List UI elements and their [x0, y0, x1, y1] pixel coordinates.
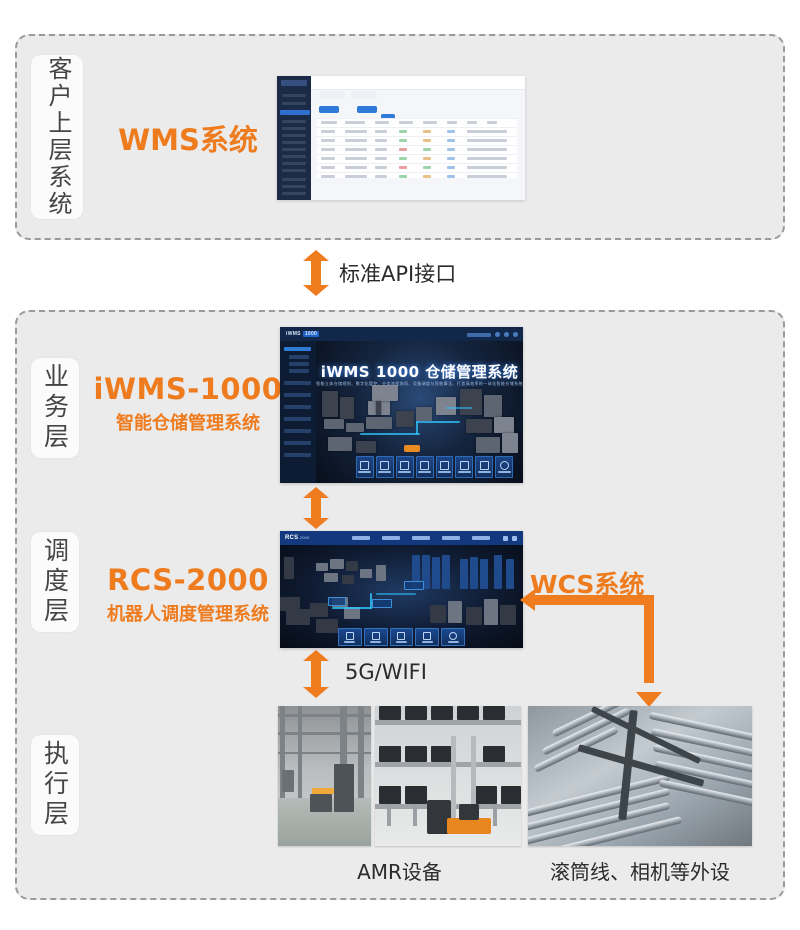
- wms-brand-icon: [281, 80, 307, 86]
- rcs-nav-item[interactable]: [352, 536, 370, 540]
- arrow-bidirectional-api: [303, 250, 329, 296]
- iwms-dock-button[interactable]: [475, 456, 493, 478]
- layer-label-scheduling-text: 调度层: [42, 537, 69, 627]
- screenshot-iwms-1000[interactable]: iWMS1000: [280, 327, 523, 483]
- iwms-sidebar: [280, 341, 316, 483]
- photo-amr-robot: [375, 706, 521, 846]
- iwms-hero-visual: iWMS 1000 仓储管理系统 智能立体仓储规划、数字化管控、业务流程协同、设…: [316, 341, 523, 483]
- iwms-menu-item: [289, 355, 309, 359]
- rcs-nav-item[interactable]: [442, 536, 460, 540]
- wms-primary-button[interactable]: [319, 106, 339, 113]
- layer-label-execution-text: 执行层: [42, 740, 69, 830]
- layer-label-business: 业务层: [31, 358, 79, 458]
- iwms-dock-button-settings[interactable]: [495, 456, 513, 478]
- wms-tab[interactable]: [319, 91, 345, 99]
- rcs-dock-button[interactable]: [338, 628, 362, 646]
- wms-menu-item: [282, 192, 306, 195]
- iwms-menu-item: [284, 393, 311, 397]
- rcs-nav-item[interactable]: [382, 536, 400, 540]
- architecture-diagram: 客户上层系统 WMS系统: [0, 0, 800, 930]
- layer-label-business-text: 业务层: [42, 363, 69, 453]
- wms-menu-item: [282, 162, 306, 165]
- iwms-dock-button[interactable]: [436, 456, 454, 478]
- rcs-header: RCS-2000: [280, 531, 523, 545]
- wms-menu-item: [282, 134, 306, 137]
- iwms-menu-item: [289, 369, 309, 373]
- photo-conveyor-line: [528, 706, 752, 846]
- iwms-dock-button[interactable]: [416, 456, 434, 478]
- wms-menu-item: [282, 169, 306, 172]
- system-subtitle-iwms: 智能仓储管理系统: [80, 409, 296, 435]
- layer-label-customer-text: 客户上层系统: [44, 56, 70, 218]
- iwms-dock-button[interactable]: [455, 456, 473, 478]
- iwms-menu-item: [284, 429, 311, 433]
- iwms-menu-item: [284, 405, 311, 409]
- arrow-wcs-connector: [520, 595, 655, 707]
- wms-menu-item: [282, 94, 306, 97]
- iwms-dock-button[interactable]: [396, 456, 414, 478]
- iwms-dock-button[interactable]: [376, 456, 394, 478]
- rcs-nav[interactable]: [352, 536, 490, 540]
- wms-menu-item: [282, 141, 306, 144]
- rcs-dock-button[interactable]: [415, 628, 439, 646]
- system-subtitle-rcs: 机器人调度管理系统: [80, 600, 296, 626]
- rcs-nav-item[interactable]: [412, 536, 430, 540]
- rcs-hero-visual: [280, 545, 523, 648]
- screenshot-rcs-2000[interactable]: RCS-2000: [280, 531, 523, 648]
- wms-data-table: [317, 118, 517, 178]
- iwms-hero-title: iWMS 1000 仓储管理系统: [316, 361, 523, 382]
- rcs-dock-bar[interactable]: [338, 628, 465, 646]
- system-title-wms: WMS系统: [96, 117, 280, 159]
- rcs-dock-button-settings[interactable]: [441, 628, 465, 646]
- iwms-hero-subtitle: 智能立体仓储规划、数字化管控、业务流程协同、设备调度与智能算法、打造高效率的一体…: [316, 381, 523, 387]
- iwms-menu-item: [284, 417, 311, 421]
- wms-tab[interactable]: [351, 91, 377, 99]
- wms-menu-item: [282, 127, 306, 130]
- layer-label-customer: 客户上层系统: [31, 55, 83, 219]
- arrow-bidirectional-iwms-rcs: [303, 487, 329, 529]
- layer-label-execution: 执行层: [31, 735, 79, 835]
- rcs-header-actions[interactable]: [503, 536, 517, 541]
- iwms-header-actions[interactable]: [467, 332, 518, 337]
- iwms-menu-item: [284, 453, 311, 457]
- connector-label-wireless: 5G/WIFI: [345, 660, 427, 684]
- rcs-dock-button[interactable]: [390, 628, 414, 646]
- rcs-dock-button[interactable]: [364, 628, 388, 646]
- wms-menu-item: [282, 178, 306, 181]
- wms-menu-item: [282, 185, 306, 188]
- iwms-menu-item: [284, 441, 311, 445]
- iwms-menu-item-active: [284, 347, 311, 351]
- iwms-dock-bar[interactable]: [356, 456, 513, 478]
- iwms-header: iWMS1000: [280, 327, 523, 341]
- wms-menu-item: [282, 155, 306, 158]
- layer-label-scheduling: 调度层: [31, 532, 79, 632]
- system-title-rcs: RCS-2000: [80, 563, 296, 597]
- rcs-logo: RCS-2000: [285, 535, 310, 541]
- system-title-iwms: iWMS-1000: [80, 372, 296, 406]
- iwms-menu-item: [284, 381, 311, 385]
- caption-amr: AMR设备: [278, 856, 521, 885]
- arrow-bidirectional-wireless: [303, 650, 329, 698]
- wms-primary-button[interactable]: [357, 106, 377, 113]
- caption-conveyor: 滚筒线、相机等外设: [528, 856, 752, 885]
- rcs-nav-item[interactable]: [472, 536, 490, 540]
- wms-menu-item-active: [280, 110, 310, 115]
- wms-topbar: [311, 76, 525, 90]
- connector-label-api: 标准API接口: [339, 258, 456, 288]
- screenshot-wms[interactable]: [277, 76, 525, 200]
- photo-amr-aisle: [278, 706, 371, 846]
- wms-menu-item: [282, 148, 306, 151]
- wms-menu-item: [282, 102, 306, 105]
- wms-sidebar: [277, 76, 311, 200]
- iwms-menu-item: [289, 362, 309, 366]
- iwms-dock-button[interactable]: [356, 456, 374, 478]
- wms-menu-item: [282, 120, 306, 123]
- iwms-logo: iWMS1000: [286, 331, 319, 337]
